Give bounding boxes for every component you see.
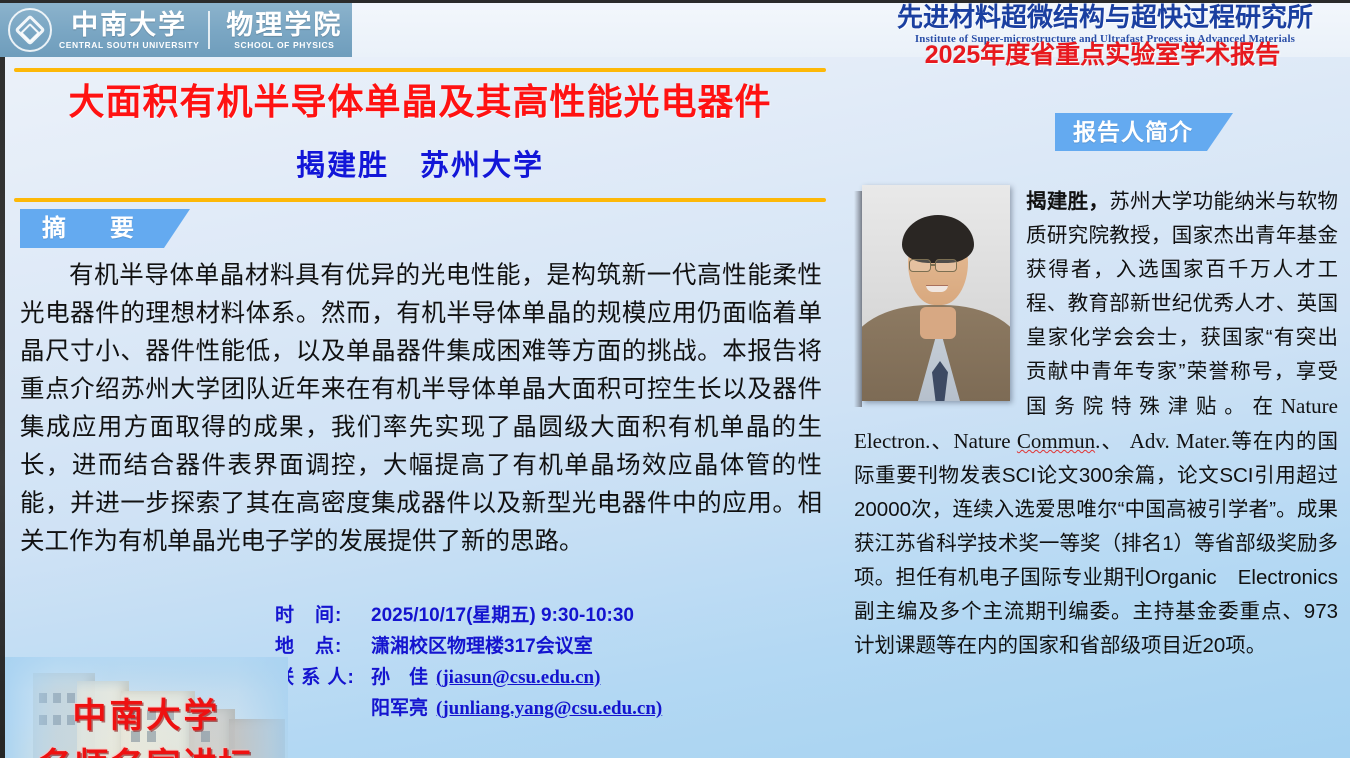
contact1-email[interactable]: (jiasun@csu.edu.cn) <box>436 662 600 693</box>
bio-banner-label: 报告人简介 <box>1055 113 1233 151</box>
university-name-en: CENTRAL SOUTH UNIVERSITY <box>59 40 199 51</box>
forum-title-line1: 中南大学 <box>5 691 288 741</box>
institute-name-cn: 先进材料超微结构与超快过程研究所 <box>860 2 1350 32</box>
forum-title: 中南大学 名师名家讲坛 <box>5 691 288 758</box>
event-details: 时 间: 2025/10/17(星期五) 9:30-10:30 地 点: 潇湘校… <box>275 600 835 724</box>
bio-photo-wrap-spacer <box>854 185 1026 407</box>
university-name-cn: 中南大学 <box>71 10 187 40</box>
venue-label: 地 点: <box>275 631 371 662</box>
university-name: 中南大学 CENTRAL SOUTH UNIVERSITY <box>59 10 199 51</box>
time-value: 2025/10/17(星期五) 9:30-10:30 <box>371 600 634 631</box>
right-panel: 报告人简介 揭建胜，苏州大学功能纳米与软物质研究院教授，国家杰出青年基金获得者，… <box>840 57 1350 758</box>
abstract-banner-label: 摘 要 <box>20 209 190 248</box>
detail-row-time: 时 间: 2025/10/17(星期五) 9:30-10:30 <box>275 600 835 631</box>
bio-journal-misspelled: Commun <box>1017 429 1095 453</box>
logo-divider <box>208 11 210 49</box>
university-logo-block: 中南大学 CENTRAL SOUTH UNIVERSITY 物理学院 SCHOO… <box>0 3 352 57</box>
school-name-cn: 物理学院 <box>226 10 342 40</box>
speaker-bio: 揭建胜，苏州大学功能纳米与软物质研究院教授，国家杰出青年基金获得者，入选国家百千… <box>840 185 1350 663</box>
talk-speaker-affiliation: 揭建胜 苏州大学 <box>14 147 826 185</box>
school-name-en: SCHOOL OF PHYSICS <box>234 40 334 51</box>
contact1-name: 孙 佳 <box>371 662 428 693</box>
time-label: 时 间: <box>275 600 371 631</box>
left-edge-border <box>0 57 5 758</box>
bio-part1: 苏州大学功能纳米与软物质研究院教授，国家杰出青年基金获得者，入选国家百千万人才工… <box>1026 190 1338 418</box>
contact2-email[interactable]: (junliang.yang@csu.edu.cn) <box>436 693 662 724</box>
seminar-poster: 中南大学 CENTRAL SOUTH UNIVERSITY 物理学院 SCHOO… <box>0 0 1350 758</box>
university-seal-icon <box>8 8 52 52</box>
bio-part2: 等在内的国际重要刊物发表SCI论文300余篇，论文SCI引用超过20000次，连… <box>854 430 1338 657</box>
forum-title-line2: 名师名家讲坛 <box>5 741 288 758</box>
divider-rule-abstract <box>14 198 826 202</box>
detail-row-venue: 地 点: 潇湘校区物理楼317会议室 <box>275 631 835 662</box>
talk-title: 大面积有机半导体单晶及其高性能光电器件 <box>14 79 826 125</box>
abstract-banner: 摘 要 <box>20 209 190 248</box>
bio-journals-post: .、 Adv. Mater. <box>1095 429 1230 453</box>
contact2-name: 阳军亮 <box>371 693 428 724</box>
detail-row-contact1: 联 系 人: 孙 佳 (jiasun@csu.edu.cn) <box>275 662 835 693</box>
venue-value: 潇湘校区物理楼317会议室 <box>371 631 593 662</box>
school-name: 物理学院 SCHOOL OF PHYSICS <box>226 10 342 51</box>
contact-label: 联 系 人: <box>275 662 371 693</box>
divider-rule-top <box>14 68 826 72</box>
abstract-text: 有机半导体单晶材料具有优异的光电性能，是构筑新一代高性能柔性光电器件的理想材料体… <box>12 257 830 561</box>
bio-banner: 报告人简介 <box>1055 113 1233 151</box>
bio-speaker-name: 揭建胜， <box>1026 190 1109 213</box>
left-panel: 大面积有机半导体单晶及其高性能光电器件 揭建胜 苏州大学 摘 要 有机半导体单晶… <box>0 57 840 758</box>
detail-row-contact2: 阳军亮 (junliang.yang@csu.edu.cn) <box>275 693 835 724</box>
forum-badge-image: 中南大学 名师名家讲坛 <box>5 657 288 758</box>
